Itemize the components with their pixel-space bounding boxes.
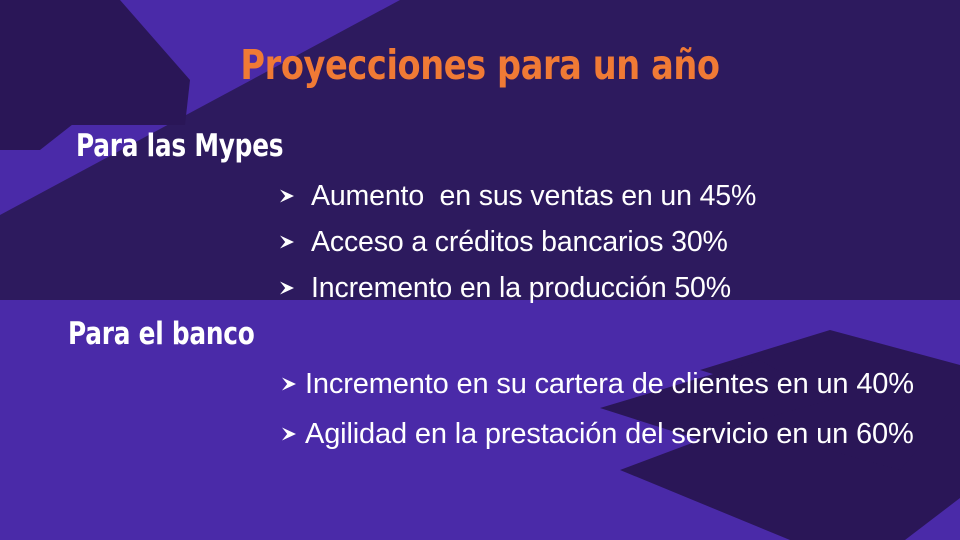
list-item-label: Incremento en su cartera de clientes en … (305, 366, 914, 404)
list-item-label: Acceso a créditos bancarios 30% (311, 224, 756, 261)
list-item-label: Agilidad en la prestación del servicio e… (305, 416, 914, 454)
list-item: Aumento en sus ventas en un 45% (280, 178, 756, 215)
section-heading-mypes: Para las Mypes (76, 130, 283, 163)
list-item-label: Aumento en sus ventas en un 45% (311, 178, 756, 215)
list-item: Acceso a créditos bancarios 30% (280, 224, 756, 261)
list-item: Incremento en su cartera de clientes en … (282, 366, 914, 404)
chevron-arrow-bullet-icon (280, 189, 294, 203)
bullet-list-banco: Incremento en su cartera de clientes en … (282, 366, 914, 465)
list-item: Agilidad en la prestación del servicio e… (282, 416, 914, 454)
section-heading-banco: Para el banco (68, 318, 255, 351)
chevron-arrow-bullet-icon (282, 427, 296, 441)
chevron-arrow-bullet-icon (280, 281, 294, 295)
list-item-label: Incremento en la producción 50% (311, 270, 756, 307)
chevron-arrow-bullet-icon (280, 235, 294, 249)
bullet-list-mypes: Aumento en sus ventas en un 45% Acceso a… (280, 178, 756, 316)
chevron-arrow-bullet-icon (282, 377, 296, 391)
slide-content: Proyecciones para un año Para las Mypes … (0, 0, 960, 540)
list-item: Incremento en la producción 50% (280, 270, 756, 307)
presentation-slide: Proyecciones para un año Para las Mypes … (0, 0, 960, 540)
page-title: Proyecciones para un año (86, 44, 873, 87)
